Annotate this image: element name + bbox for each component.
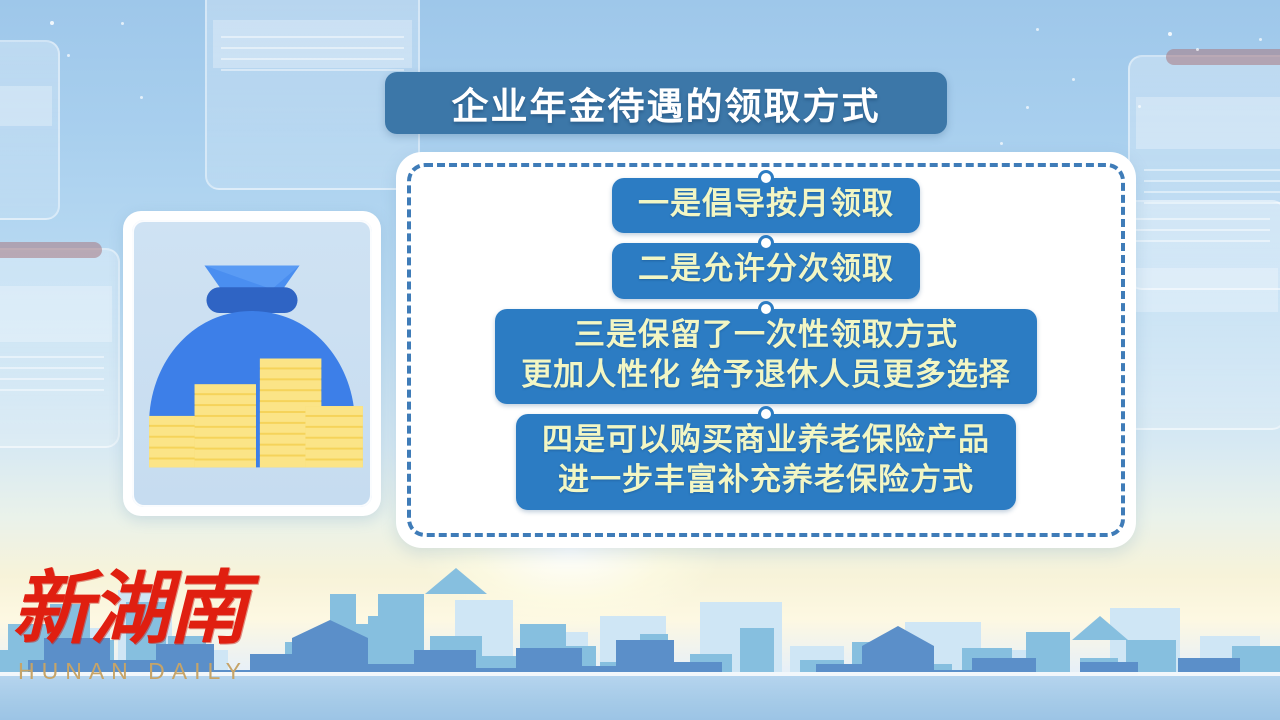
particle-dot	[1000, 142, 1003, 145]
content-panel: 一是倡导按月领取 二是允许分次领取 三是保留了一次性领取方式 更加人性化 给予退…	[396, 152, 1136, 548]
particle-dot	[50, 21, 54, 25]
infographic-slide: 一是倡导按月领取 二是允许分次领取 三是保留了一次性领取方式 更加人性化 给予退…	[0, 0, 1280, 720]
connector-dot-icon	[758, 301, 774, 317]
connector-dot-icon	[758, 170, 774, 186]
illustration-inner	[132, 220, 372, 507]
background-card-band	[1136, 97, 1280, 149]
connector-dot-icon	[758, 406, 774, 422]
item-3-line-2: 更加人性化 给予退休人员更多选择	[521, 355, 1011, 395]
item-4-line-1: 四是可以购买商业养老保险产品	[542, 420, 990, 460]
particle-dot	[1138, 105, 1141, 108]
background-card-band	[0, 86, 52, 126]
particle-dot	[67, 54, 70, 57]
watermark-logo-cn: 新湖南	[12, 570, 262, 650]
coin-stack-2	[195, 384, 256, 467]
illustration-card	[123, 211, 381, 516]
particle-dot	[1196, 48, 1199, 51]
money-bag-with-coin-stacks-icon	[132, 220, 372, 507]
background-card-lines	[221, 36, 404, 80]
particle-dot	[1026, 106, 1029, 109]
item-3[interactable]: 三是保留了一次性领取方式 更加人性化 给予退休人员更多选择	[495, 309, 1037, 405]
coin-stack-4	[305, 406, 362, 467]
item-1-line-1: 一是倡导按月领取	[638, 184, 894, 224]
background-card-cap	[1166, 49, 1280, 65]
item-1[interactable]: 一是倡导按月领取	[612, 178, 920, 233]
particle-dot	[140, 96, 143, 99]
item-4-line-2: 进一步丰富补充养老保险方式	[542, 460, 990, 500]
particle-dot	[1168, 32, 1172, 36]
watermark-logo: 新湖南 HUNAN DAILY	[12, 570, 262, 710]
item-2-line-1: 二是允许分次领取	[638, 249, 894, 289]
connector-dot-icon	[758, 235, 774, 251]
item-2[interactable]: 二是允许分次领取	[612, 243, 920, 298]
particle-dot	[1036, 28, 1039, 31]
item-3-line-1: 三是保留了一次性领取方式	[521, 315, 1011, 355]
item-4[interactable]: 四是可以购买商业养老保险产品 进一步丰富补充养老保险方式	[516, 414, 1016, 510]
particle-dot	[121, 22, 124, 25]
page-title: 企业年金待遇的领取方式	[452, 76, 881, 130]
watermark-logo-en: HUNAN DAILY	[18, 658, 262, 685]
background-card-farleft	[0, 40, 60, 220]
particle-dot	[1072, 78, 1075, 81]
background-card-left	[0, 248, 120, 448]
background-card-lines	[0, 356, 104, 400]
page-title-bar: 企业年金待遇的领取方式	[385, 72, 947, 134]
background-card-band	[0, 286, 112, 342]
particle-dot	[1259, 38, 1262, 41]
item-list: 一是倡导按月领取 二是允许分次领取 三是保留了一次性领取方式 更加人性化 给予退…	[396, 178, 1136, 510]
background-card-cap	[0, 242, 102, 258]
